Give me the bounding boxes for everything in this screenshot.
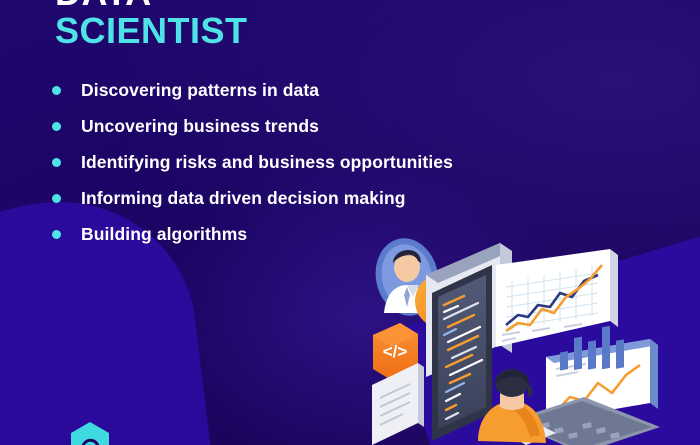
list-item: Building algorithms — [52, 216, 453, 252]
list-item-label: Informing data driven decision making — [81, 188, 406, 209]
list-item-label: Uncovering business trends — [81, 116, 319, 137]
line-chart-monitor — [496, 249, 618, 347]
bullet-dot-icon — [52, 158, 61, 167]
list-item: Informing data driven decision making — [52, 180, 453, 216]
responsibility-list: Discovering patterns in data Uncovering … — [52, 72, 453, 252]
bullet-dot-icon — [52, 122, 61, 131]
title-line-scientist: SCIENTIST — [55, 12, 248, 50]
hexagon-badge-icon — [69, 421, 111, 445]
list-item: Discovering patterns in data — [52, 72, 453, 108]
list-item-label: Discovering patterns in data — [81, 80, 319, 101]
list-item-label: Identifying risks and business opportuni… — [81, 152, 453, 173]
background-curve-secondary — [0, 239, 160, 445]
svg-text:</>: </> — [383, 342, 408, 361]
bullet-dot-icon — [52, 86, 61, 95]
document-card — [372, 363, 424, 445]
list-item-label: Building algorithms — [81, 224, 247, 245]
data-science-illustration: </> — [360, 235, 700, 445]
bullet-dot-icon — [52, 194, 61, 203]
list-item: Uncovering business trends — [52, 108, 453, 144]
poster-canvas: DATA SCIENTIST Discovering patterns in d… — [0, 0, 700, 445]
bullet-dot-icon — [52, 230, 61, 239]
code-editor-monitor — [432, 265, 492, 441]
list-item: Identifying risks and business opportuni… — [52, 144, 453, 180]
page-title: DATA SCIENTIST — [55, 0, 248, 50]
